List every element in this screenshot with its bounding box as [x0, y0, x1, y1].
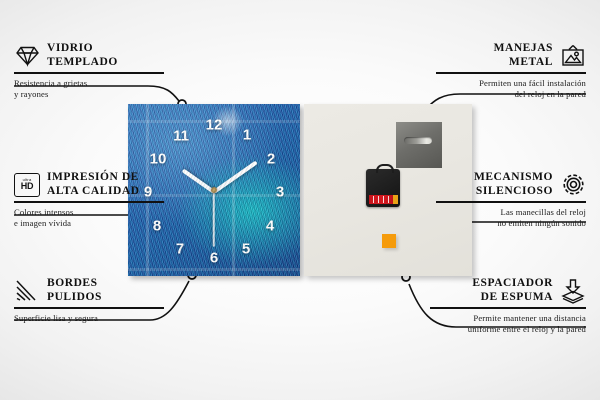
clock-number-12: 12 [206, 118, 223, 133]
hanger-slot [404, 137, 432, 144]
callout-sub-line2: e imagen vívida [14, 218, 71, 228]
callout-title-line2: METAL [509, 56, 553, 68]
clock-pivot [211, 187, 217, 193]
callout-sub-line1: Colores intensos [14, 207, 73, 217]
mechanism-chip [393, 195, 398, 204]
clock-number-5: 5 [242, 242, 250, 257]
callout-title-line1: MANEJAS [494, 42, 553, 54]
callout-sub-line1: Resistencia a grietas [14, 78, 87, 88]
callout-rule [436, 72, 586, 74]
clock-number-7: 7 [176, 242, 184, 257]
callout-sub-line1: Las manecillas del reloj [501, 207, 586, 217]
callout-title-line2: PULIDOS [47, 291, 102, 303]
mechanism-loop [376, 164, 394, 173]
callout-title-line2: TEMPLADO [47, 56, 118, 68]
ultra-hd-icon-main-text: HD [21, 182, 33, 191]
callout-title-line1: MECANISMO [474, 171, 553, 183]
clock-mechanism [366, 169, 400, 207]
callout-sub-line1: Permiten una fácil instalación [479, 78, 586, 88]
callout-rule [430, 307, 586, 309]
clock-number-2: 2 [267, 152, 275, 167]
callout-vidrio-templado: VIDRIOTEMPLADO Resistencia a grietasy ra… [14, 42, 164, 101]
clock-number-11: 11 [173, 129, 189, 144]
callout-title-line1: BORDES [47, 277, 98, 289]
callout-sub-line2: y rayones [14, 89, 49, 99]
clock-number-10: 10 [150, 152, 167, 167]
infographic-stage: 12 1 2 3 4 5 6 7 8 9 10 11 [0, 0, 600, 400]
callout-manejas-metal: MANEJASMETAL Permiten una fácil instalac… [436, 42, 586, 101]
callout-bordes-pulidos: BORDESPULIDOS Superficie lisa y segura [14, 277, 164, 324]
callout-sub-line1: Permite mantener una distancia [473, 313, 586, 323]
callout-mecanismo-silencioso: MECANISMOSILENCIOSO Las manecillas del r… [436, 171, 586, 230]
gear-icon [560, 172, 586, 198]
callout-sub-line2: uniforme entre el reloj y la pared [468, 324, 586, 334]
callout-sub-line1: Superficie lisa y segura [14, 313, 98, 323]
foam-spacer-piece [382, 234, 396, 248]
clock-number-6: 6 [210, 251, 218, 266]
wall-hanging-picture-icon [560, 43, 586, 69]
diamond-icon [14, 43, 40, 69]
callout-rule [14, 307, 164, 309]
polished-edge-icon [14, 278, 40, 304]
callout-impresion-alta-calidad: ultra HD IMPRESIÓN DEALTA CALIDAD Colore… [14, 171, 164, 230]
product-photo: 12 1 2 3 4 5 6 7 8 9 10 11 [128, 104, 472, 276]
second-hand [213, 191, 215, 247]
callout-rule [14, 201, 164, 203]
callout-title-line2: DE ESPUMA [481, 291, 553, 303]
metal-hanger-plate [396, 122, 442, 168]
clock-number-3: 3 [276, 185, 284, 200]
callout-rule [436, 201, 586, 203]
ultra-hd-icon: ultra HD [14, 172, 40, 198]
callout-title-line1: ESPACIADOR [472, 277, 553, 289]
callout-espaciador-de-espuma: ESPACIADORDE ESPUMA Permite mantener una… [430, 277, 586, 336]
clock-number-4: 4 [266, 219, 274, 234]
hour-hand [182, 169, 215, 194]
clock-number-1: 1 [243, 128, 251, 143]
callout-sub-line2: del reloj en la pared [515, 89, 586, 99]
callout-title-line2: ALTA CALIDAD [47, 185, 140, 197]
foam-spacer-arrow-icon [560, 278, 586, 304]
minute-hand [213, 161, 258, 194]
callout-rule [14, 72, 164, 74]
callout-title-line1: IMPRESIÓN DE [47, 171, 139, 183]
callout-sub-line2: no emiten ningún sonido [497, 218, 586, 228]
callout-title-line2: SILENCIOSO [476, 185, 553, 197]
callout-title-line1: VIDRIO [47, 42, 93, 54]
